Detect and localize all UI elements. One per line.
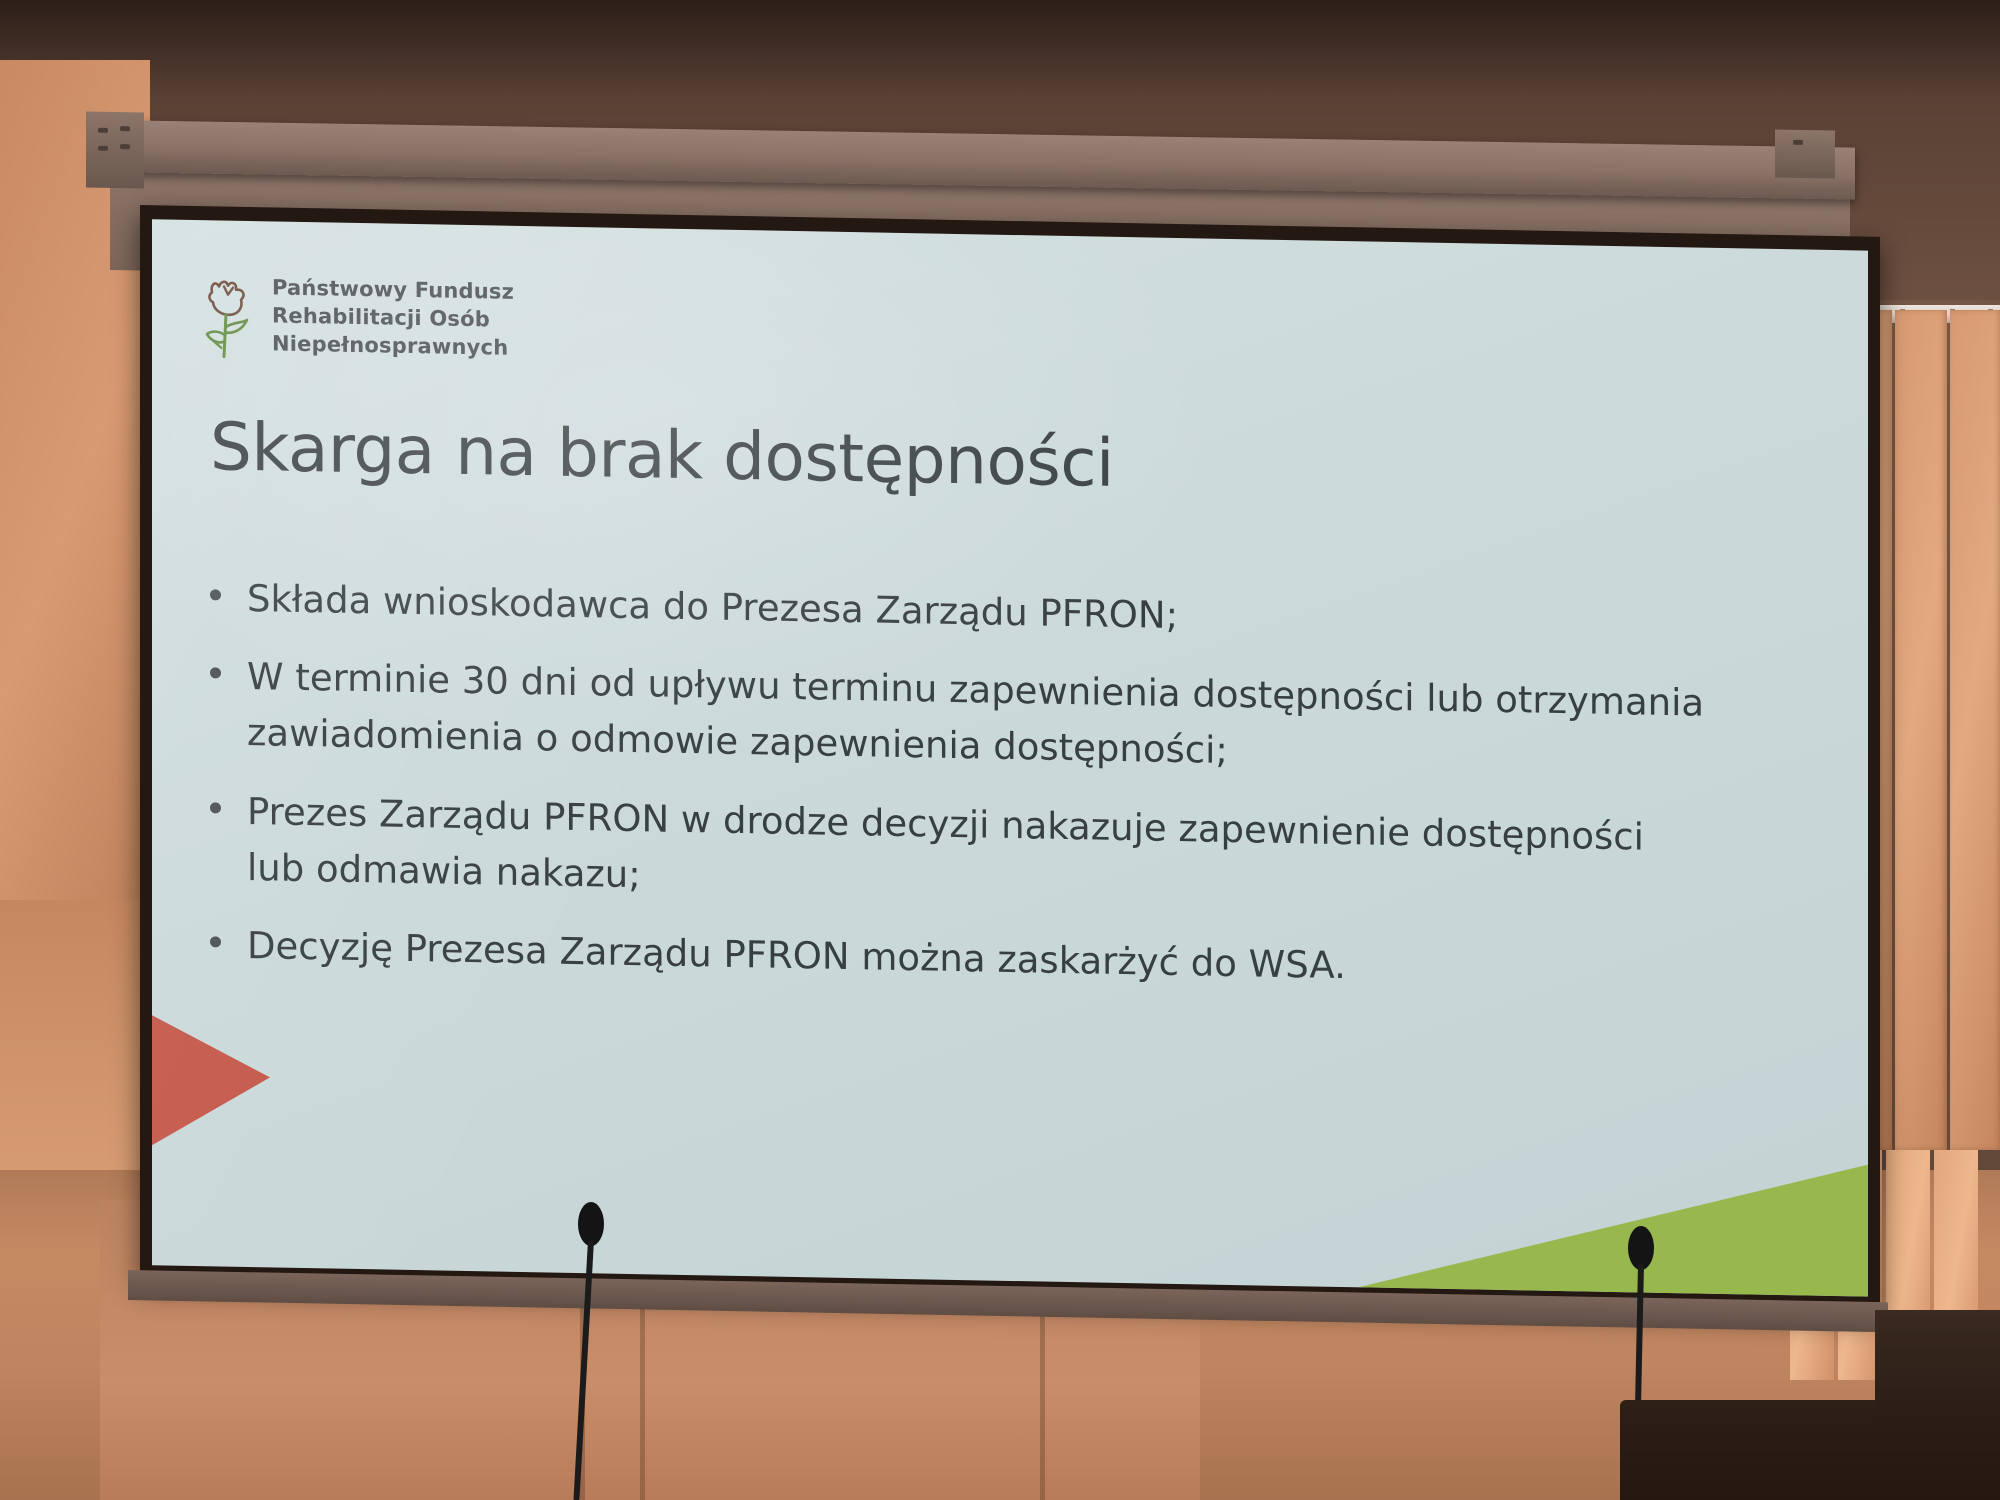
bullet-dot-icon <box>210 936 221 947</box>
slide-bullet-list: Składa wnioskodawca do Prezesa Zarządu P… <box>210 570 1770 1024</box>
presentation-slide: Państwowy Fundusz Rehabilitacji Osób Nie… <box>152 219 1868 1296</box>
pfron-logo-text: Państwowy Fundusz Rehabilitacji Osób Nie… <box>272 275 514 363</box>
conference-room: Państwowy Fundusz Rehabilitacji Osób Nie… <box>0 0 2000 1500</box>
bullet-item: Decyzję Prezesa Zarządu PFRON można zask… <box>210 917 1770 1002</box>
ceiling-shadow <box>0 0 2000 95</box>
pfron-tulip-logo-icon <box>202 272 258 359</box>
decorative-red-triangle <box>152 1015 270 1147</box>
bullet-item: W terminie 30 dni od upływu terminu zape… <box>210 649 1770 790</box>
bullet-text: Składa wnioskodawca do Prezesa Zarządu P… <box>247 571 1178 644</box>
bullet-dot-icon <box>210 802 221 813</box>
bullet-item: Prezes Zarządu PFRON w drodze decyzji na… <box>210 783 1770 924</box>
decorative-green-triangle <box>1358 1155 1868 1296</box>
bullet-text: W terminie 30 dni od upływu terminu zape… <box>247 649 1707 788</box>
dark-wall-object <box>1875 1310 2000 1420</box>
slide-title: Skarga na brak dostępności <box>210 408 1114 502</box>
bullet-dot-icon <box>210 668 221 679</box>
roller-bracket-left <box>86 112 144 189</box>
bullet-text: Decyzję Prezesa Zarządu PFRON można zask… <box>247 918 1346 994</box>
pfron-logo: Państwowy Fundusz Rehabilitacji Osób Nie… <box>202 272 514 364</box>
roller-bracket-right <box>1775 130 1835 179</box>
bullet-item: Składa wnioskodawca do Prezesa Zarządu P… <box>210 570 1770 655</box>
bullet-dot-icon <box>210 589 221 600</box>
projection-screen: Państwowy Fundusz Rehabilitacji Osób Nie… <box>140 205 1880 1312</box>
bullet-text: Prezes Zarządu PFRON w drodze decyzji na… <box>247 784 1707 923</box>
